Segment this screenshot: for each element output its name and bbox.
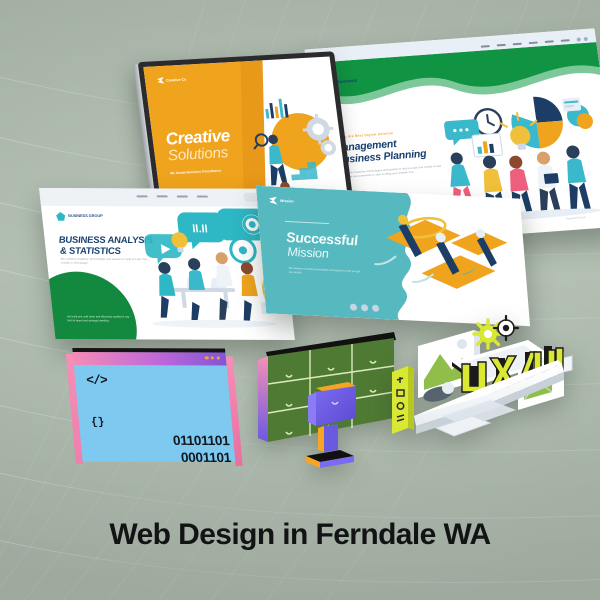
logo-mark-icon	[56, 212, 66, 221]
mockup-code-window: </> {} 01101101 0001101	[73, 352, 236, 462]
brace-icon: {}	[91, 417, 105, 429]
search-icon[interactable]	[576, 37, 588, 42]
window-controls[interactable]	[205, 356, 220, 359]
nav-item[interactable]	[513, 43, 522, 45]
logo-text: Creative Co	[166, 77, 187, 82]
headline-line-2: & STATISTICS	[59, 245, 121, 256]
nav-item[interactable]	[545, 40, 554, 42]
nav-item[interactable]	[497, 44, 506, 46]
brand-logo: Mission	[269, 196, 294, 205]
nav-menu[interactable]	[136, 195, 208, 197]
logo-text: BUSINESS GROUP	[68, 214, 103, 219]
mission-title-line-2: Mission	[287, 245, 329, 261]
nav-item[interactable]	[197, 196, 208, 198]
footer-note: We build and craft clean and effectively…	[67, 315, 130, 323]
code-window-body: </> {} 01101101 0001101	[74, 365, 235, 462]
green-circle-decoration	[39, 271, 142, 340]
mockup-business-analysis-statistics: BUSINESS GROUP BUSINESS ANALYSIS & STATI…	[39, 188, 295, 340]
mockup-iso-laptop-uxui	[378, 310, 574, 470]
rocket-illustration	[363, 201, 523, 314]
nav-item[interactable]	[481, 45, 490, 47]
pagination-dots[interactable]	[350, 304, 380, 312]
gear-icon	[474, 316, 518, 348]
browser-topbar	[39, 188, 280, 207]
toolbar-panel	[392, 366, 414, 434]
screen-title-line-2: Solutions	[167, 144, 229, 164]
nav-item[interactable]	[177, 195, 188, 197]
window-titlebar	[73, 352, 227, 365]
svg-text:ll.ll: ll.ll	[192, 223, 209, 235]
poster-canvas: Business Finding the Best Digital Soluti…	[0, 0, 600, 600]
credit-text: Designed By Team	[566, 216, 586, 220]
logo-mark-icon	[157, 77, 165, 84]
logo-text: Mission	[280, 199, 294, 204]
logo-mark-icon	[269, 196, 278, 204]
page-title: Web Design in Ferndale WA	[0, 518, 600, 552]
nav-item[interactable]	[136, 195, 147, 197]
mockup-successful-mission: Mission Successful Mission We combine cr…	[256, 186, 530, 326]
binary-line-1: 01101101	[172, 433, 230, 450]
nav-item[interactable]	[529, 41, 538, 43]
binary-text: 01101101 0001101	[172, 433, 231, 466]
binary-line-2: 0001101	[174, 449, 232, 466]
code-tag-icon: </>	[86, 373, 108, 388]
nav-item[interactable]	[561, 39, 570, 41]
brand-logo: BUSINESS GROUP	[56, 212, 104, 221]
nav-item[interactable]	[157, 195, 168, 197]
